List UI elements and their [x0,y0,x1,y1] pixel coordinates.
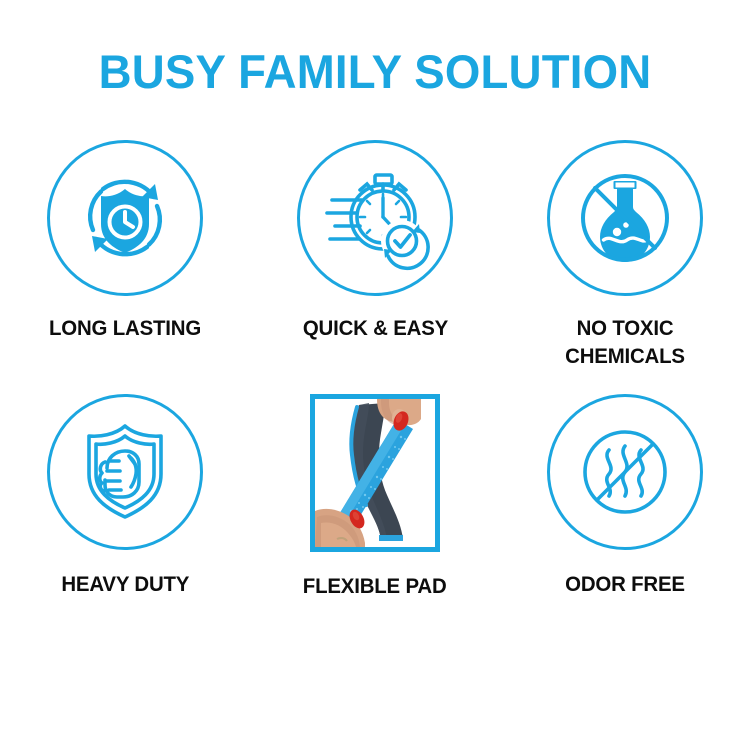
feature-item-quick-and-easy: QUICK & EASY [250,140,500,371]
feature-label-flexible-pad: FLEXIBLE PAD [303,572,447,600]
feature-item-no-toxic-chemicals: NO TOXIC CHEMICALS [500,140,750,371]
feature-label-long-lasting: LONG LASTING [49,314,201,342]
feature-infographic: BUSY FAMILY SOLUTION [0,0,750,750]
no-odor-waves-icon [569,416,681,528]
feature-row-bottom: HEAVY DUTY [0,394,750,600]
photo-frame-flexible-pad [310,394,440,552]
badge-circle-long-lasting [47,140,203,296]
badge-circle-no-toxic-chemicals [547,140,703,296]
badge-circle-heavy-duty [47,394,203,550]
page-title: BUSY FAMILY SOLUTION [11,48,739,95]
feature-label-odor-free: ODOR FREE [565,570,685,598]
feature-item-long-lasting: LONG LASTING [0,140,250,371]
feature-label-heavy-duty: HEAVY DUTY [61,570,189,598]
feature-grid: LONG LASTING [0,140,750,600]
shield-clock-refresh-icon [71,164,179,272]
feature-row-top: LONG LASTING [0,140,750,371]
no-chemical-flask-icon [569,162,681,274]
stopwatch-speed-check-icon [319,162,431,274]
feature-label-no-toxic-chemicals: NO TOXIC CHEMICALS [525,314,725,371]
feature-item-flexible-pad: FLEXIBLE PAD [250,394,500,600]
feature-item-odor-free: ODOR FREE [500,394,750,600]
badge-circle-odor-free [547,394,703,550]
hands-twisting-pad-photo [315,399,435,547]
badge-circle-quick-and-easy [297,140,453,296]
feature-item-heavy-duty: HEAVY DUTY [0,394,250,600]
shield-fist-icon [69,416,181,528]
feature-label-quick-and-easy: QUICK & EASY [302,314,447,342]
